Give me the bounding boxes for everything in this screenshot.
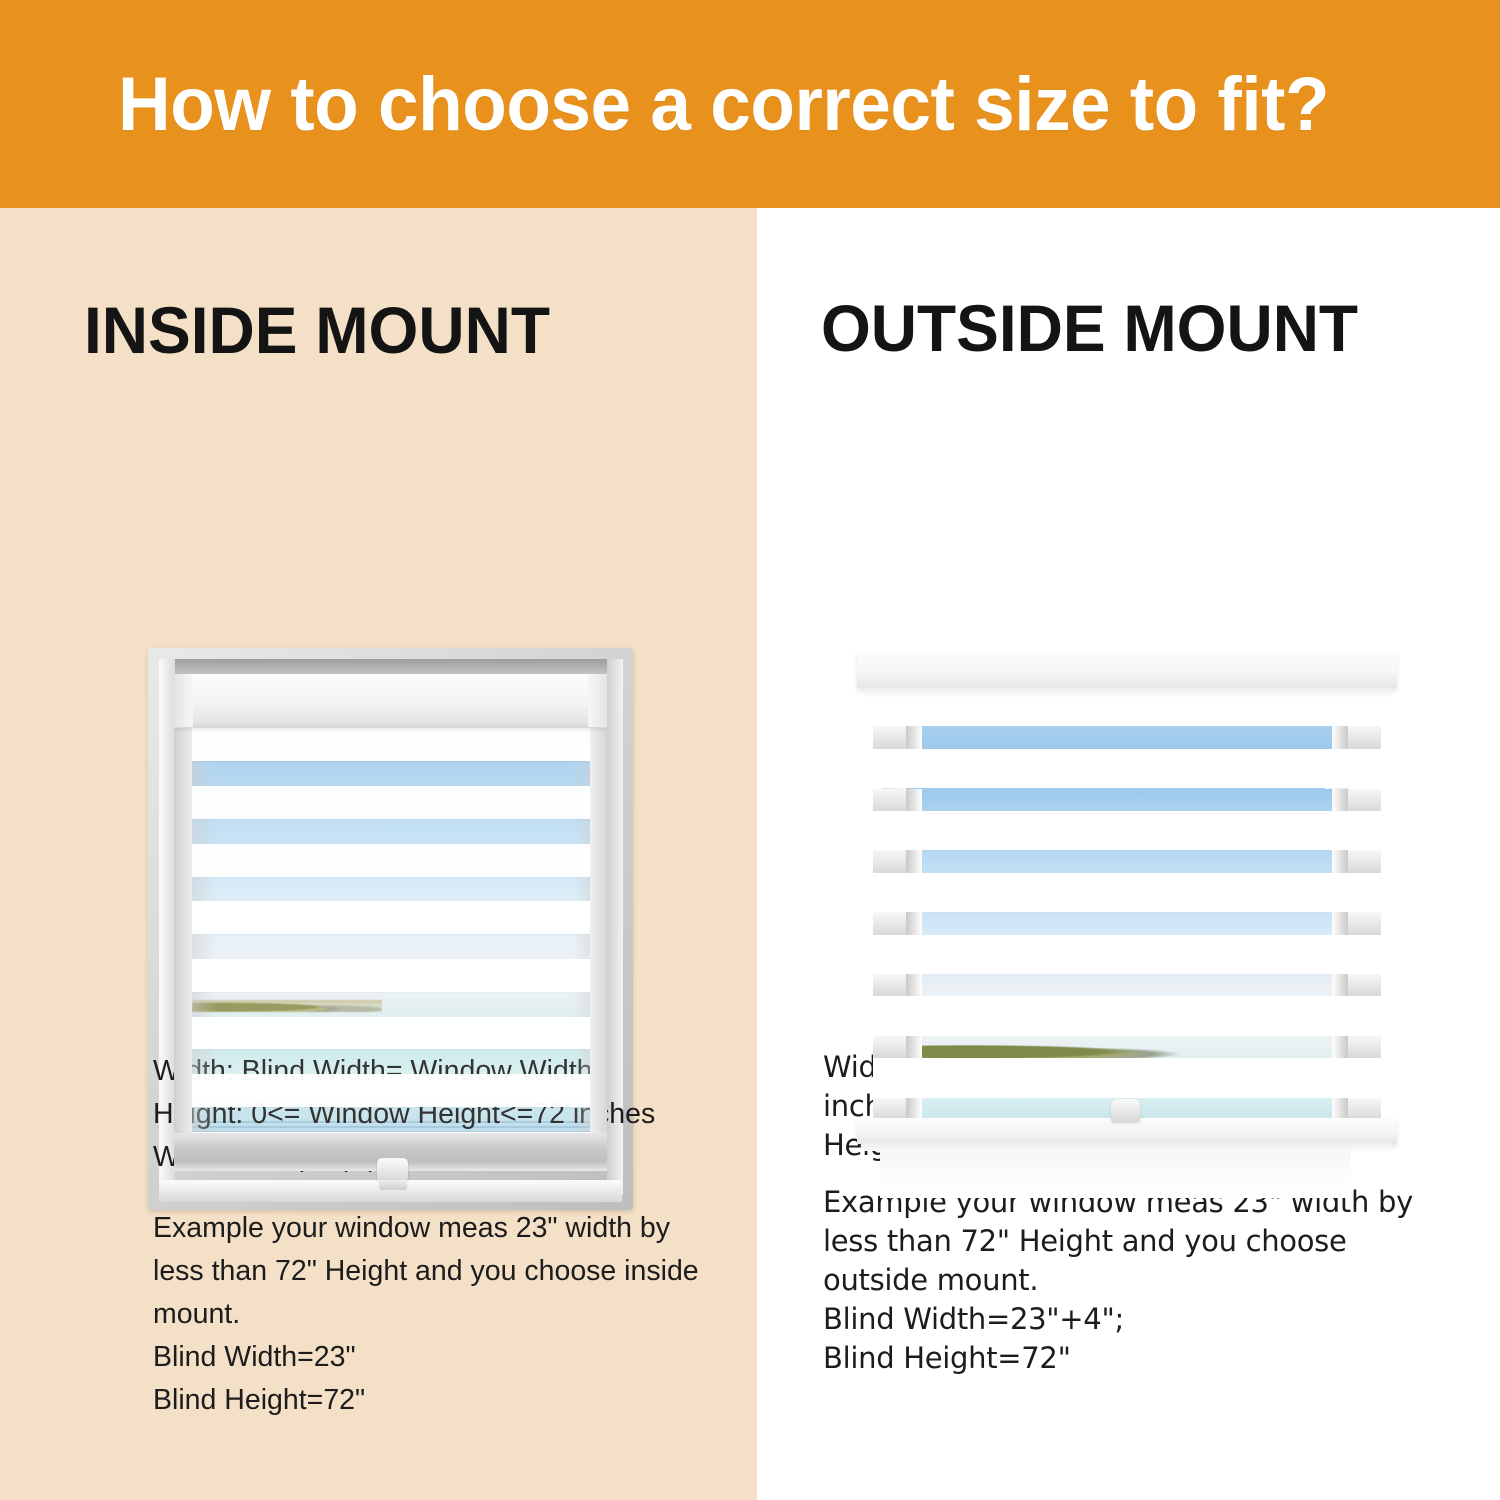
blind-opaque-band	[873, 1058, 1381, 1097]
blind-opaque-band	[873, 996, 1381, 1035]
slat-end-cap-left	[873, 789, 905, 811]
window-jamb-right	[590, 674, 607, 1171]
slat-end-cap-left	[873, 1036, 905, 1058]
slat-end-cap-right	[1348, 789, 1380, 811]
blind-sheer-band	[873, 789, 1381, 811]
blind-opaque-band	[174, 1074, 607, 1107]
sheer-band-glass	[922, 789, 1332, 811]
slat-shade-right	[1332, 726, 1348, 750]
outside-blind-width: Blind Width=23"+4";	[823, 1300, 1423, 1339]
blind-sheer-band	[873, 726, 1381, 750]
slat-shade-left	[906, 1036, 922, 1058]
slat-shade-left	[906, 974, 922, 996]
slat-end-cap-right	[1348, 974, 1380, 996]
blind-opaque-band	[174, 901, 607, 934]
slat-end-cap-left	[873, 1098, 905, 1120]
blind-sheer-band	[174, 934, 607, 959]
blind-sheer-band	[873, 974, 1381, 996]
slat-end-cap-right	[1348, 1098, 1380, 1120]
slat-shade-left	[906, 789, 922, 811]
blind-headrail	[857, 651, 1397, 688]
outside-blind-height: Blind Height=72"	[823, 1339, 1423, 1378]
page-title: How to choose a correct size to fit?	[118, 61, 1329, 148]
inside-mount-panel: INSIDE MOUNT	[0, 208, 757, 1500]
blind-opaque-band	[174, 959, 607, 992]
slat-end-cap-left	[873, 850, 905, 872]
sheer-band-glass	[922, 1036, 1332, 1058]
blind-opaque-band	[174, 786, 607, 819]
inside-example-line: less than 72" Height and you choose insi…	[153, 1250, 718, 1293]
slat-shade-left	[906, 726, 922, 750]
window-glass-opening	[174, 674, 607, 1171]
blind-opaque-band	[174, 844, 607, 877]
inside-example-line: mount.	[153, 1293, 718, 1336]
sheer-band-glass	[922, 726, 1332, 750]
outside-mount-window-diagram	[857, 648, 1397, 1210]
blind-sheer-band	[174, 877, 607, 902]
infographic-page: How to choose a correct size to fit? INS…	[0, 0, 1500, 1500]
blind-opaque-band	[174, 727, 607, 762]
blind-opaque-band	[174, 1017, 607, 1050]
blind-sheer-band	[174, 1107, 607, 1132]
header-banner: How to choose a correct size to fit?	[0, 0, 1500, 208]
slat-shade-right	[1332, 850, 1348, 872]
blind-sheer-band	[174, 992, 607, 1017]
window-jamb-left	[174, 674, 192, 1171]
inside-blind-height: Blind Height=72"	[153, 1379, 718, 1422]
blind-opaque-band	[873, 749, 1381, 788]
blind-sheer-band	[174, 1049, 607, 1074]
slat-end-cap-right	[1348, 1036, 1380, 1058]
outside-mount-panel: OUTSIDE MOUNT	[757, 208, 1500, 1500]
blind-opaque-band	[873, 873, 1381, 912]
headrail-end-cap-left	[174, 674, 193, 727]
slat-shade-right	[1332, 974, 1348, 996]
blind-opaque-band	[873, 811, 1381, 850]
inside-mount-heading: INSIDE MOUNT	[84, 292, 550, 368]
slat-shade-right	[1332, 1036, 1348, 1058]
window-latch-icon	[1111, 1099, 1140, 1123]
sheer-band-glass	[922, 974, 1332, 996]
blind-headrail-cassette	[174, 674, 607, 728]
slat-end-cap-right	[1348, 850, 1380, 872]
inside-blind-width: Blind Width=23"	[153, 1336, 718, 1379]
text-spacer	[153, 1179, 718, 1207]
outside-example-line: less than 72" Height and you choose	[823, 1222, 1423, 1261]
inside-example-line: Example your window meas 23" width by	[153, 1207, 718, 1250]
zebra-blind-fabric	[174, 674, 607, 1171]
slat-shade-left	[906, 912, 922, 934]
blind-sheer-band	[873, 1036, 1381, 1058]
content-panels: INSIDE MOUNT	[0, 208, 1500, 1500]
slat-shade-right	[1332, 1098, 1348, 1120]
blind-sheer-band	[174, 819, 607, 844]
slat-shade-left	[906, 850, 922, 872]
window-sill	[880, 1144, 1351, 1198]
slat-shade-right	[1332, 912, 1348, 934]
slat-end-cap-right	[1348, 726, 1380, 750]
outside-example-line: outside mount.	[823, 1261, 1423, 1300]
slat-end-cap-left	[873, 726, 905, 750]
sheer-band-glass	[922, 912, 1332, 934]
sheer-band-glass	[922, 850, 1332, 872]
inside-mount-window-diagram	[148, 648, 633, 1210]
slat-shade-left	[906, 1098, 922, 1120]
slat-end-cap-left	[873, 912, 905, 934]
window-frame-top-bevel	[170, 659, 610, 675]
slat-end-cap-left	[873, 974, 905, 996]
slat-shade-right	[1332, 789, 1348, 811]
blind-sheer-band	[873, 850, 1381, 872]
outside-mount-heading: OUTSIDE MOUNT	[821, 290, 1358, 366]
headrail-end-cap-right	[588, 674, 607, 727]
window-latch-icon	[377, 1158, 408, 1180]
blind-opaque-band	[873, 935, 1381, 974]
slat-end-cap-right	[1348, 912, 1380, 934]
blind-sheer-band	[174, 761, 607, 786]
blind-sheer-band	[873, 912, 1381, 934]
